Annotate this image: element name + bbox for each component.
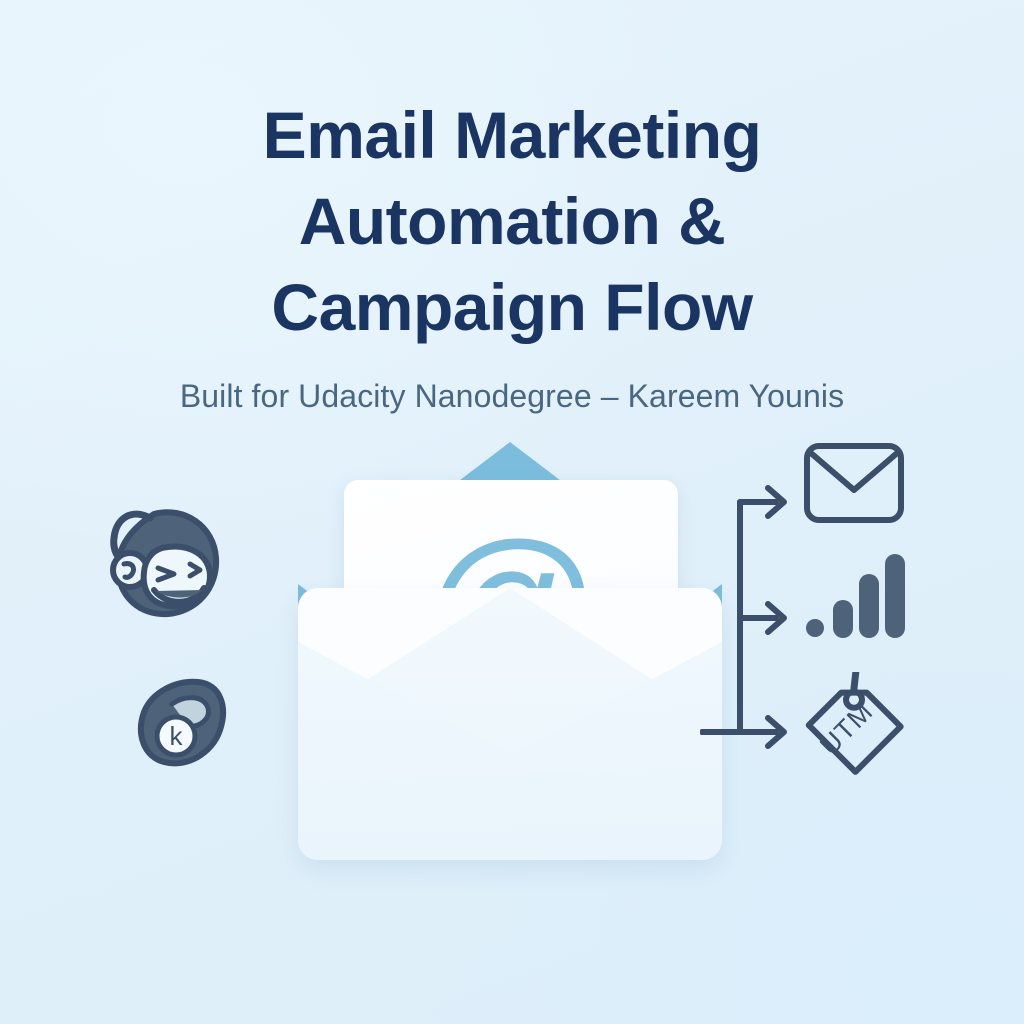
- analytics-bar-1: [806, 619, 824, 637]
- analytics-bar-3: [859, 574, 879, 638]
- utm-tag-icon: UTM: [798, 672, 910, 780]
- analytics-bar-chart-icon: [802, 548, 906, 640]
- mailchimp-logo: [100, 496, 232, 628]
- klaviyo-letter: k: [170, 721, 184, 751]
- heading-block: Email Marketing Automation & Campaign Fl…: [0, 92, 1024, 416]
- poster-canvas: Email Marketing Automation & Campaign Fl…: [0, 0, 1024, 1024]
- envelope-icon: [802, 440, 906, 526]
- envelope-graphic: @: [296, 436, 724, 864]
- page-title: Email Marketing Automation & Campaign Fl…: [0, 92, 1024, 350]
- envelope-body: [298, 588, 722, 860]
- tag-string: [843, 672, 868, 688]
- analytics-bar-4: [885, 554, 905, 638]
- analytics-bar-2: [833, 600, 853, 638]
- page-subtitle: Built for Udacity Nanodegree – Kareem Yo…: [0, 376, 1024, 416]
- klaviyo-logo: k: [128, 668, 236, 776]
- flow-connector: [700, 440, 810, 770]
